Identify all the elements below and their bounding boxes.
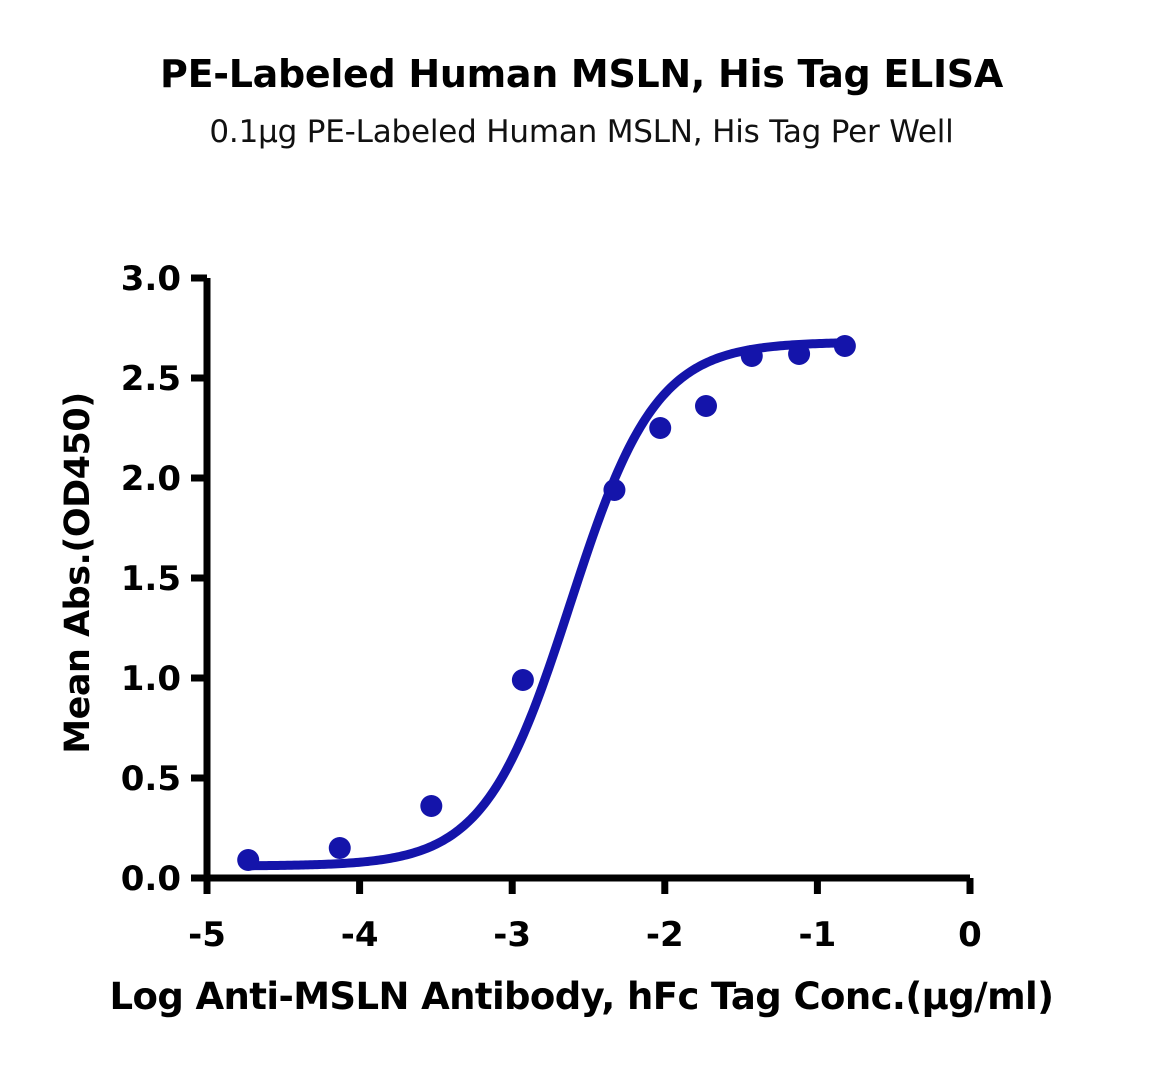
y-tick-label: 2.5 <box>121 359 181 399</box>
x-tick-label: -2 <box>646 915 684 955</box>
x-tick-label: -3 <box>493 915 531 955</box>
data-point <box>237 849 259 871</box>
x-tick-label: -1 <box>799 915 837 955</box>
data-point <box>834 335 856 357</box>
data-point <box>649 417 671 439</box>
y-axis-tick-labels: 0.00.51.01.52.02.53.0 <box>121 259 181 899</box>
data-point <box>788 343 810 365</box>
chart-figure: PE-Labeled Human MSLN, His Tag ELISA 0.1… <box>0 0 1163 1076</box>
x-tick-label: 0 <box>958 915 982 955</box>
y-tick-label: 1.5 <box>121 559 181 599</box>
fit-curve <box>248 343 845 866</box>
x-axis-tick-labels: -5-4-3-2-10 <box>188 915 982 955</box>
data-point <box>741 345 763 367</box>
data-point <box>329 837 351 859</box>
plot-area: 0.00.51.01.52.02.53.0 -5-4-3-2-10 <box>0 0 1163 1076</box>
y-tick-label: 1.0 <box>121 659 181 699</box>
data-point <box>603 479 625 501</box>
y-tick-label: 2.0 <box>121 459 181 499</box>
x-tick-label: -5 <box>188 915 226 955</box>
data-point <box>512 669 534 691</box>
y-tick-label: 3.0 <box>121 259 181 299</box>
data-points <box>237 335 856 871</box>
x-tick-label: -4 <box>341 915 379 955</box>
axis-spines <box>207 278 970 878</box>
data-point <box>420 795 442 817</box>
data-point <box>695 395 717 417</box>
y-tick-label: 0.5 <box>121 759 181 799</box>
y-tick-label: 0.0 <box>121 859 181 899</box>
